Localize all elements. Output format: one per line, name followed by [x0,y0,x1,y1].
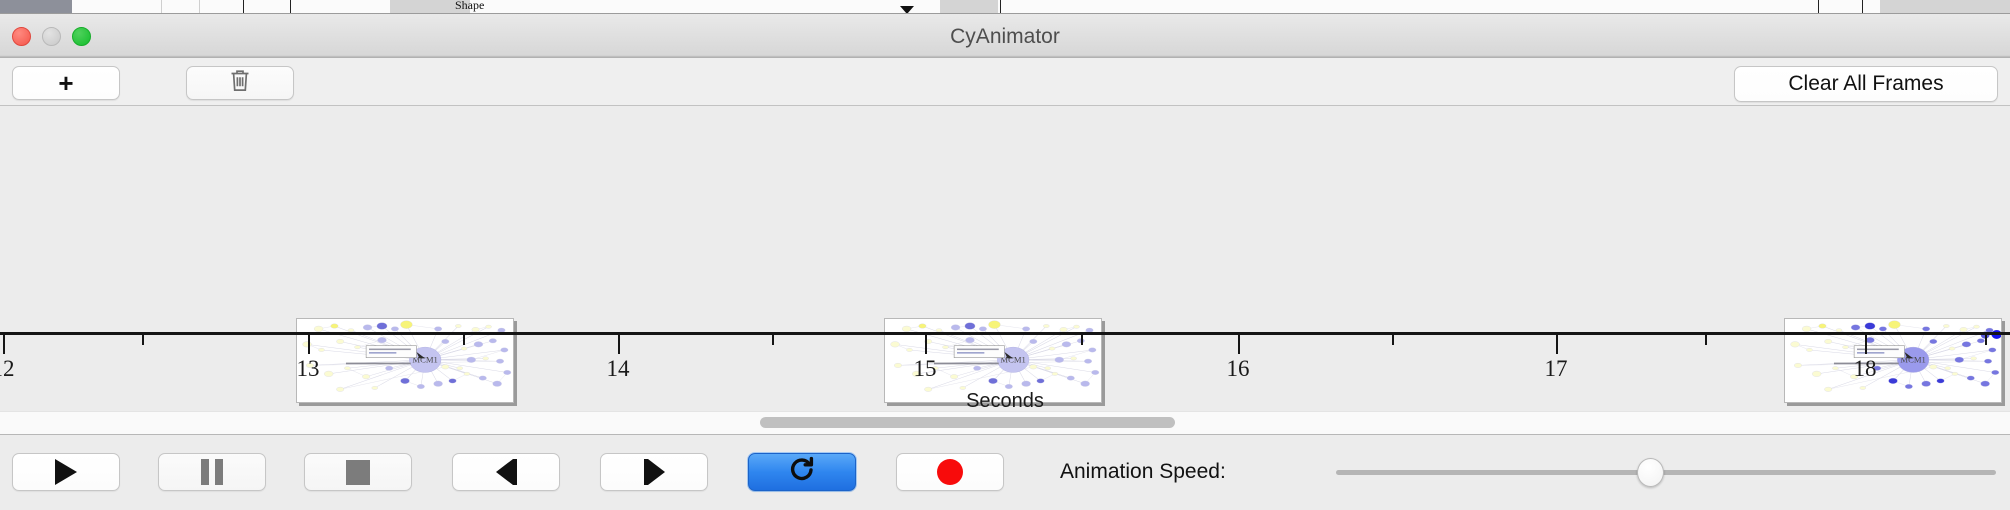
axis-tick-major [1238,335,1240,354]
bg-app-label: Shape [455,0,484,13]
axis-tick-label: 17 [1545,356,1568,382]
axis-tick-label: 15 [914,356,937,382]
play-button[interactable] [12,453,120,491]
bg-tick [243,0,244,14]
axis-tick-major [1556,335,1558,354]
timeline-scrollbar[interactable] [0,411,2010,435]
axis-tick-major [925,335,927,354]
bg-grey-block [940,0,998,14]
axis-tick-minor [142,335,144,345]
axis-tick-major [308,335,310,354]
axis-tick-minor [772,335,774,345]
skip-to-start-button[interactable] [452,453,560,491]
window-title: CyAnimator [0,25,2010,49]
pause-button[interactable] [158,453,266,491]
clear-all-frames-button[interactable]: Clear All Frames [1734,66,1998,102]
trash-icon [229,68,251,98]
bg-tick [1862,0,1863,14]
cyanimator-window: CyAnimator + Clear All Frames MC [0,14,2010,510]
record-button[interactable] [896,453,1004,491]
pause-icon [201,459,223,485]
bg-tick [1000,0,1001,14]
bg-triangle-marker [900,6,914,14]
clear-all-frames-label: Clear All Frames [1788,72,1943,96]
timeline-axis [0,332,2010,335]
axis-tick-minor [1392,335,1394,345]
axis-tick-minor [1081,335,1083,345]
axis-tick-minor [463,335,465,345]
bg-dark-block [0,0,72,14]
delete-frame-button[interactable] [186,66,294,100]
axis-tick-label: 18 [1854,356,1877,382]
loop-button[interactable] [748,453,856,491]
bg-cell [162,0,200,14]
axis-tick-major [618,335,620,354]
axis-tick-minor [1985,335,1987,345]
skip-previous-icon [496,459,517,485]
record-circle-icon [937,459,963,485]
plus-icon: + [58,70,73,96]
loop-refresh-icon [787,455,817,490]
bg-grey-block [1880,0,2010,14]
axis-tick-major [3,335,5,354]
axis-tick-label: 12 [0,356,15,382]
skip-to-end-button[interactable] [600,453,708,491]
playback-control-bar: Animation Speed: [0,435,2010,509]
stop-button[interactable] [304,453,412,491]
axis-tick-minor [1705,335,1707,345]
background-app-strip: Shape [0,0,2010,14]
slider-thumb[interactable] [1637,458,1664,487]
add-frame-button[interactable]: + [12,66,120,100]
animation-speed-slider[interactable] [1336,453,1996,491]
timeline-panel[interactable]: MCM1 MCM1 MCM1 12131415161718 Seconds [0,106,2010,411]
axis-tick-major [1865,335,1867,354]
slider-track[interactable] [1336,470,1996,475]
animation-speed-label: Animation Speed: [1060,460,1226,484]
play-icon [55,459,77,485]
axis-title: Seconds [0,390,2010,411]
frame-toolbar: + Clear All Frames [0,58,2010,106]
axis-tick-label: 16 [1227,356,1250,382]
bg-cell [72,0,162,14]
axis-tick-label: 14 [607,356,630,382]
bg-tick [1818,0,1819,14]
axis-tick-label: 13 [297,356,320,382]
bg-tick [290,0,291,14]
window-titlebar[interactable]: CyAnimator [0,14,2010,58]
timeline-scrollbar-thumb[interactable] [760,417,1175,428]
stop-icon [346,460,370,485]
skip-next-icon [644,459,665,485]
